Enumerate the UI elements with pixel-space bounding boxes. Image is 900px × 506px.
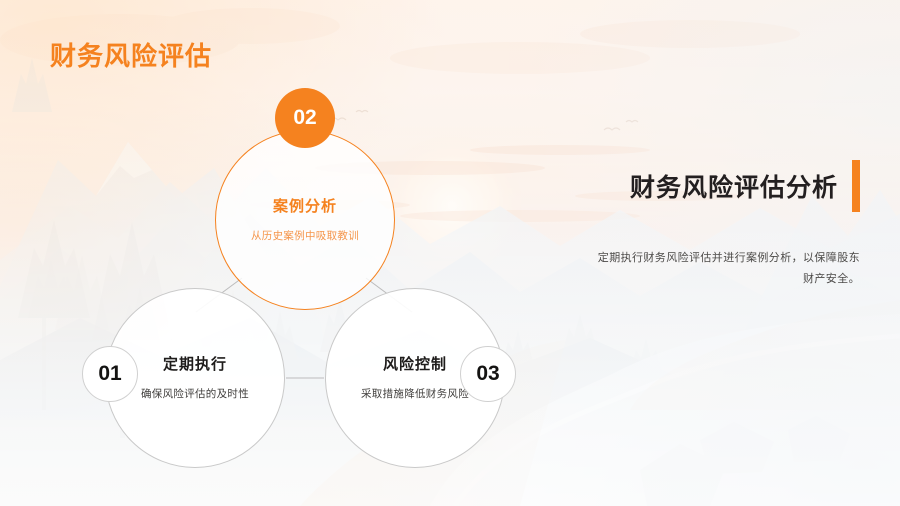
node-title: 案例分析 (273, 195, 337, 216)
node-description: 确保风险评估的及时性 (133, 385, 257, 403)
node-description: 从历史案例中吸取教训 (243, 227, 367, 245)
section-heading: 财务风险评估分析 (630, 168, 838, 204)
diagram-badge-01[interactable]: 01 (82, 346, 138, 402)
heading-accent-bar (852, 160, 860, 212)
process-diagram: 案例分析 从历史案例中吸取教训 02 定期执行 确保风险评估的及时性 01 风险… (0, 0, 620, 506)
diagram-badge-02[interactable]: 02 (275, 88, 335, 148)
node-description: 采取措施降低财务风险 (353, 385, 477, 403)
diagram-badge-03[interactable]: 03 (460, 346, 516, 402)
diagram-node-case-analysis[interactable]: 案例分析 从历史案例中吸取教训 (215, 130, 395, 310)
node-title: 风险控制 (383, 353, 447, 374)
slide-canvas: 财务风险评估 财务风险评估分析 定期执行财务风险评估并进行案例分析，以保障股东财… (0, 0, 900, 506)
node-title: 定期执行 (163, 353, 227, 374)
